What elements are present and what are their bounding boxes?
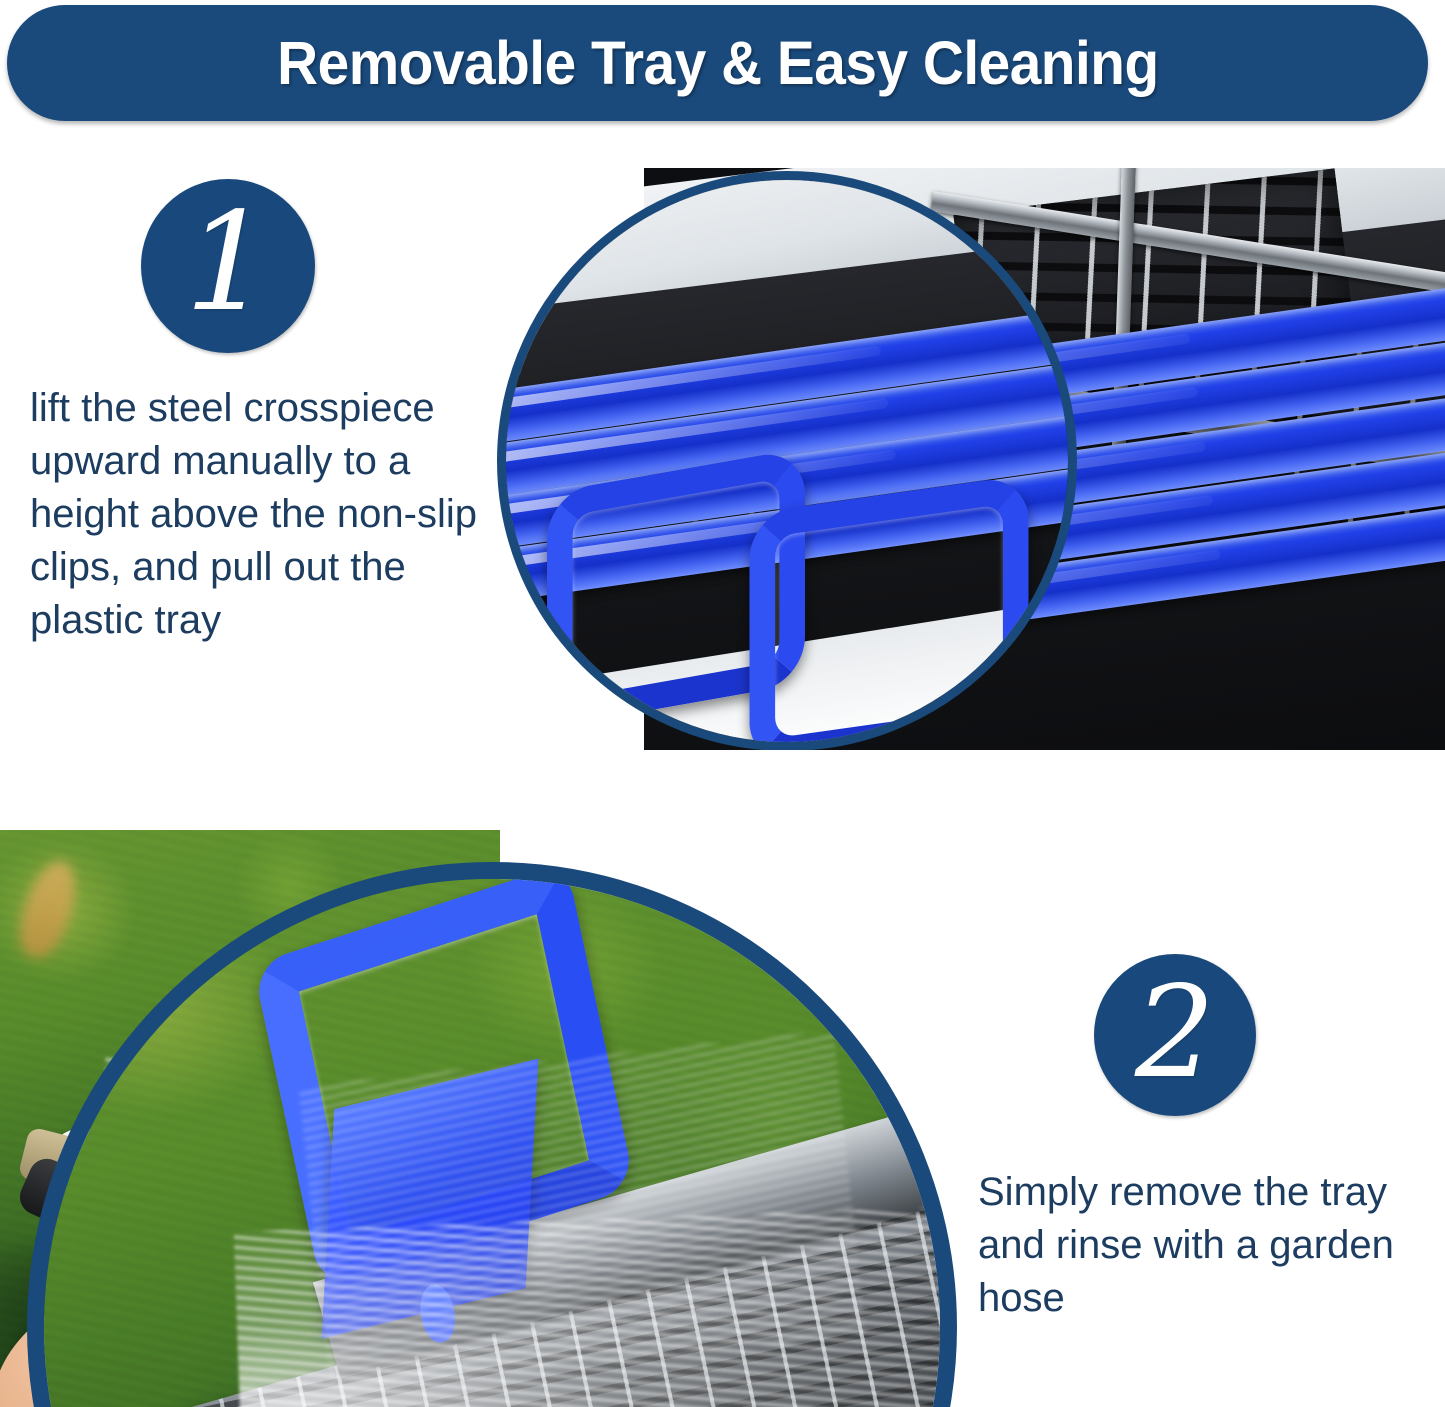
infographic-root: Removable Tray & Easy Cleaning — [0, 0, 1445, 1407]
step-2-number: 2 — [1135, 970, 1215, 1096]
step-1-photo-circle — [497, 171, 1077, 750]
header-banner: Removable Tray & Easy Cleaning — [7, 5, 1428, 121]
page-title: Removable Tray & Easy Cleaning — [277, 28, 1158, 98]
step-1-number: 1 — [185, 195, 272, 331]
garden-scene-circle — [44, 879, 940, 1407]
step-1-text: lift the steel crosspiece upward manuall… — [30, 382, 500, 647]
water-spray-secondary — [298, 1031, 864, 1390]
step-2-badge: 2 — [1094, 954, 1256, 1116]
step-2-photo-circle — [27, 862, 957, 1407]
step-1-badge: 1 — [141, 179, 315, 353]
grill-closeup-scene-circle — [506, 180, 1068, 742]
tray-handle — [749, 474, 1028, 742]
step-2-text: Simply remove the tray and rinse with a … — [978, 1166, 1440, 1325]
